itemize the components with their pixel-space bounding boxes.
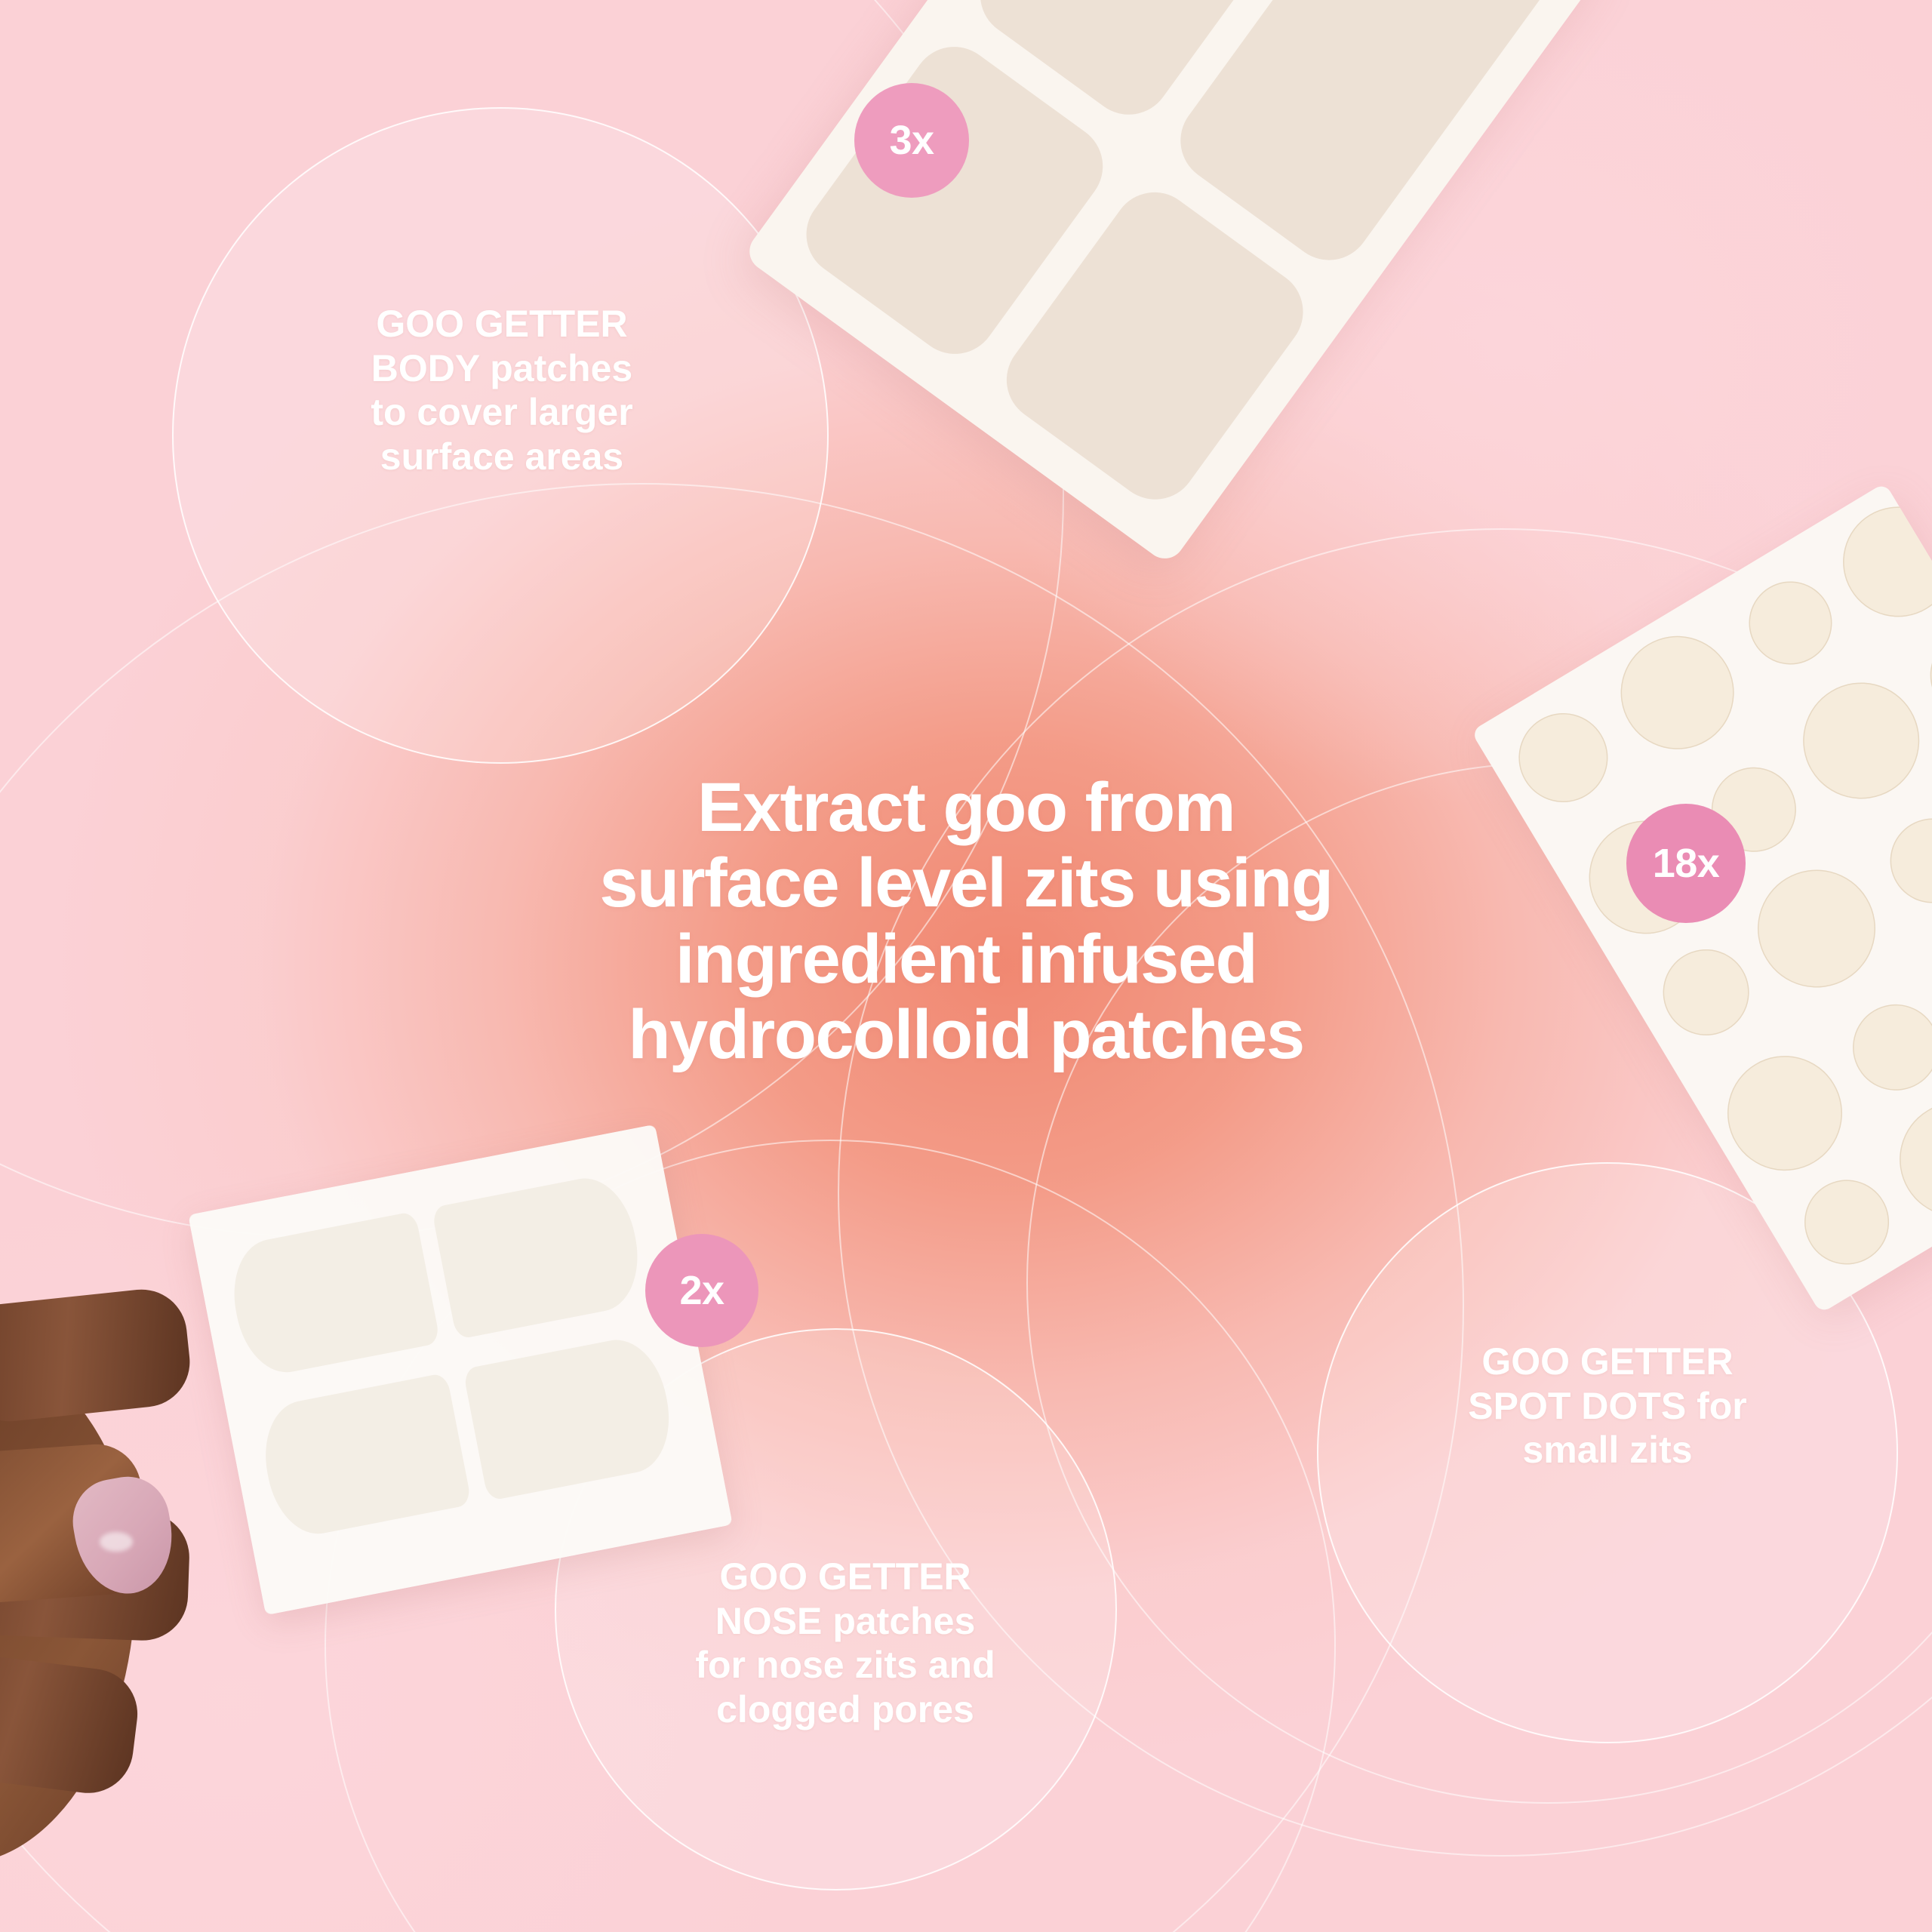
callout-body-line-1: GOO GETTER <box>249 302 755 346</box>
spot-dot <box>1502 697 1624 819</box>
fingernail-highlight <box>100 1532 133 1552</box>
callout-nose-line-3: for nose zits and <box>604 1643 1087 1687</box>
callout-dots-variant: SPOT DOTS <box>1468 1385 1686 1427</box>
callout-nose-line-2: NOSE patches <box>604 1599 1087 1644</box>
spot-dot <box>1789 1164 1905 1281</box>
spot-dot <box>1914 616 1932 734</box>
badge-nose-count: 2x <box>645 1234 758 1347</box>
callout-nose-variant: NOSE <box>715 1600 823 1642</box>
headline-line-3: ingredient infused <box>423 921 1509 997</box>
headline-line-2: surface level zits using <box>423 845 1509 921</box>
spot-dot <box>1837 989 1932 1106</box>
callout-body-line-3: to cover larger <box>249 390 755 435</box>
callout-body-line-2: BODY patches <box>249 346 755 391</box>
callout-nose-line-1: GOO GETTER <box>604 1555 1087 1599</box>
spot-dot <box>1782 661 1932 820</box>
badge-body-count: 3x <box>854 83 969 198</box>
spot-dot <box>1647 934 1764 1051</box>
callout-dots-line-2: SPOT DOTS for <box>1374 1384 1841 1429</box>
spot-dot <box>1736 848 1897 1009</box>
callout-text-body: GOO GETTER BODY patches to cover larger … <box>249 302 755 478</box>
callout-text-nose: GOO GETTER NOSE patches for nose zits an… <box>604 1555 1087 1731</box>
spot-dot <box>1875 803 1932 919</box>
spot-dot <box>1734 566 1847 680</box>
hand-index-finger <box>0 1285 194 1426</box>
callout-body-desc-1: patches <box>490 347 632 389</box>
callout-nose-desc-1: patches <box>832 1600 975 1642</box>
callout-dots-desc-1: for <box>1697 1385 1747 1427</box>
callout-dots-line-3: small zits <box>1374 1428 1841 1472</box>
callout-text-spot-dots: GOO GETTER SPOT DOTS for small zits <box>1374 1340 1841 1472</box>
headline-line-1: Extract goo from <box>423 770 1509 845</box>
callout-body-variant: BODY <box>371 347 480 389</box>
hand-holding-nose-patches <box>0 1238 400 1932</box>
badge-spot-dots-count: 18x <box>1626 804 1746 923</box>
infographic-canvas: 3x 18x 2x GOO GETTER BODY patches to cov… <box>0 0 1932 1932</box>
headline-line-4: hydrocolloid patches <box>423 997 1509 1072</box>
callout-dots-line-1: GOO GETTER <box>1374 1340 1841 1384</box>
page-headline: Extract goo from surface level zits usin… <box>423 770 1509 1072</box>
callout-nose-line-4: clogged pores <box>604 1687 1087 1732</box>
callout-body-line-4: surface areas <box>249 435 755 479</box>
